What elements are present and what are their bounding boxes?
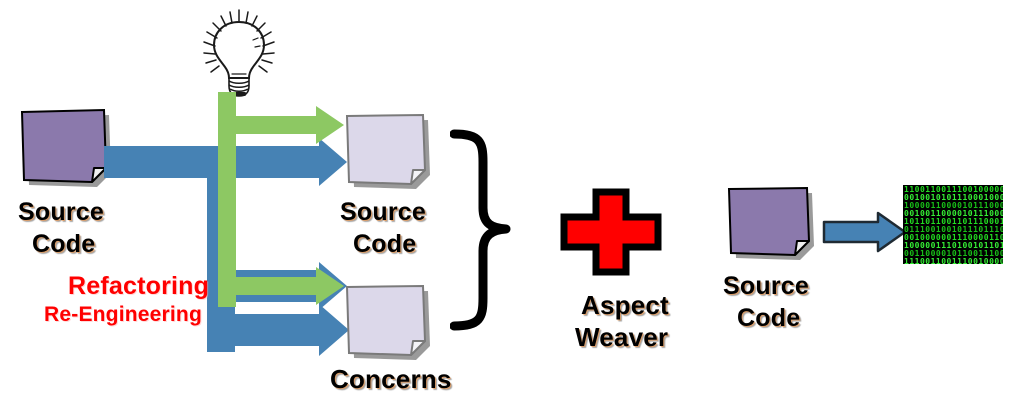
output-concerns-label: Concerns: [330, 364, 452, 395]
lightbulb-icon: [192, 6, 288, 98]
input-source-code-document: [18, 108, 114, 190]
output-source-code-label-line1: Source: [340, 198, 426, 227]
idea-green-arrow: [218, 92, 348, 307]
aspect-weaver-label-line2: Weaver: [575, 322, 668, 353]
right-curly-brace-icon: [450, 128, 525, 333]
weaver-source-code-label-line2: Code: [737, 304, 800, 333]
output-source-code-document: [343, 112, 433, 194]
input-source-code-label-line1: Source: [18, 198, 104, 227]
weaver-source-code-label-line1: Source: [723, 272, 809, 301]
diagram-canvas: Source Code: [0, 0, 1028, 420]
binary-row: 11100110011100100000: [904, 258, 1003, 264]
output-concerns-document: [343, 283, 433, 365]
re-engineering-annotation: Re-Engineering: [44, 303, 202, 327]
weaver-source-code-document: [725, 185, 817, 265]
aspect-weaver-label-line1: Aspect: [581, 290, 669, 321]
refactoring-annotation: Refactoring: [68, 272, 209, 301]
input-source-code-label-line2: Code: [32, 230, 95, 259]
compiled-binary-image: 11001100111001000000 0010010101110001000…: [903, 185, 1003, 264]
plus-icon: [560, 188, 668, 280]
compile-blue-arrow: [822, 210, 908, 254]
output-source-code-label-line2: Code: [353, 230, 416, 259]
